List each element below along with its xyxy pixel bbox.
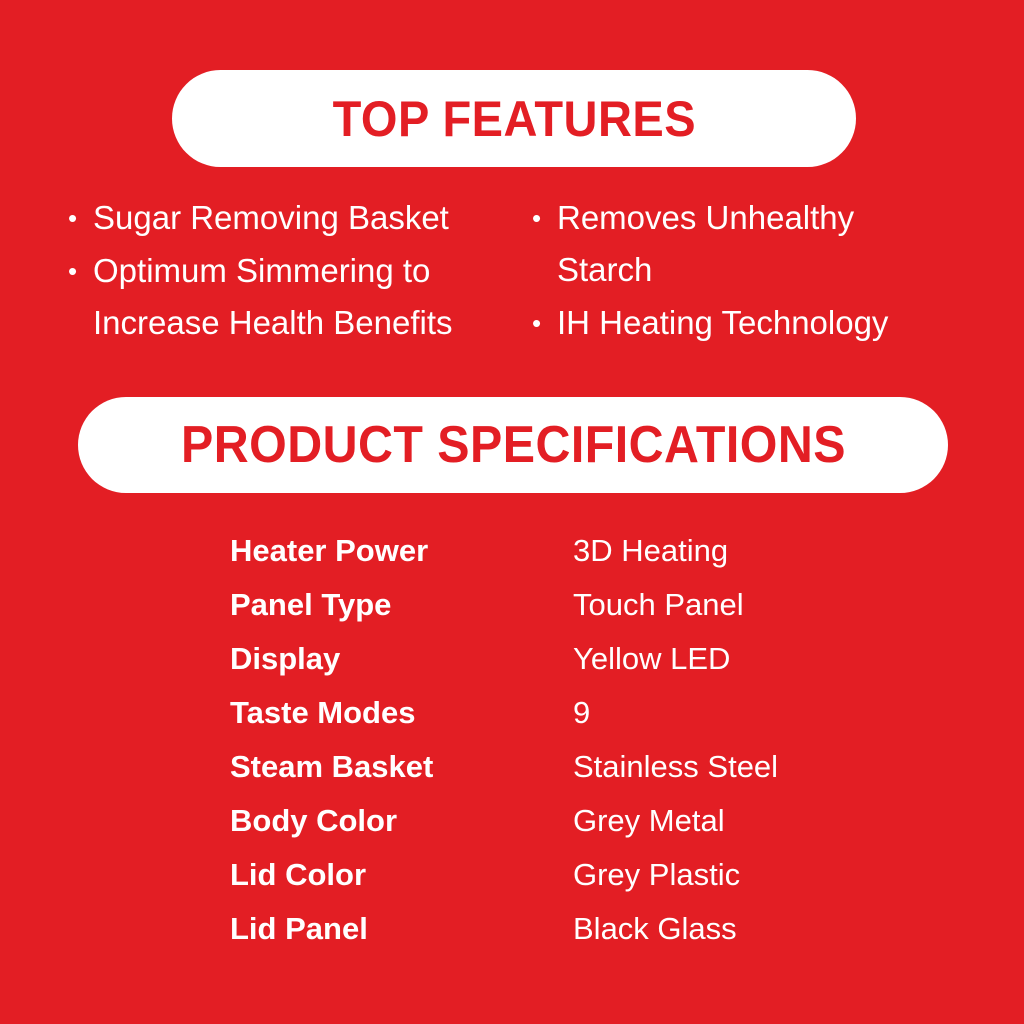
spec-value: Grey Metal: [573, 794, 990, 848]
spec-label: Display: [230, 632, 573, 686]
spec-label: Taste Modes: [230, 686, 573, 740]
table-row: Panel Type Touch Panel: [230, 578, 990, 632]
list-item: • Removes Unhealthy Starch: [532, 192, 940, 296]
table-row: Lid Panel Black Glass: [230, 902, 990, 956]
spec-value: 3D Heating: [573, 524, 990, 578]
table-row: Lid Color Grey Plastic: [230, 848, 990, 902]
feature-text: Optimum Simmering to Increase Health Ben…: [93, 245, 470, 349]
bullet-icon: •: [68, 192, 93, 244]
table-row: Display Yellow LED: [230, 632, 990, 686]
spec-label: Body Color: [230, 794, 573, 848]
spec-label: Lid Color: [230, 848, 573, 902]
list-item: • Optimum Simmering to Increase Health B…: [68, 245, 470, 349]
product-specifications-title: PRODUCT SPECIFICATIONS: [181, 419, 846, 471]
spec-value: Touch Panel: [573, 578, 990, 632]
spec-label: Panel Type: [230, 578, 573, 632]
spec-label: Steam Basket: [230, 740, 573, 794]
spec-label: Heater Power: [230, 524, 573, 578]
table-row: Heater Power 3D Heating: [230, 524, 990, 578]
feature-text: Sugar Removing Basket: [93, 192, 470, 244]
list-item: • Sugar Removing Basket: [68, 192, 470, 244]
spec-value: Yellow LED: [573, 632, 990, 686]
top-features-banner: TOP FEATURES: [172, 70, 856, 167]
bullet-icon: •: [532, 192, 557, 244]
specifications-table: Heater Power 3D Heating Panel Type Touch…: [230, 524, 990, 956]
features-column-left: • Sugar Removing Basket • Optimum Simmer…: [0, 192, 470, 350]
bullet-icon: •: [532, 297, 557, 349]
spec-value: Black Glass: [573, 902, 990, 956]
spec-value: Grey Plastic: [573, 848, 990, 902]
bullet-icon: •: [68, 245, 93, 297]
feature-text: IH Heating Technology: [557, 297, 940, 349]
spec-label: Lid Panel: [230, 902, 573, 956]
features-column-right: • Removes Unhealthy Starch • IH Heating …: [470, 192, 940, 350]
product-specifications-banner: PRODUCT SPECIFICATIONS: [78, 397, 948, 493]
table-row: Taste Modes 9: [230, 686, 990, 740]
spec-value: 9: [573, 686, 990, 740]
feature-text: Removes Unhealthy Starch: [557, 192, 940, 296]
features-list: • Sugar Removing Basket • Optimum Simmer…: [0, 192, 1024, 350]
top-features-title: TOP FEATURES: [332, 94, 695, 144]
list-item: • IH Heating Technology: [532, 297, 940, 349]
table-row: Body Color Grey Metal: [230, 794, 990, 848]
table-row: Steam Basket Stainless Steel: [230, 740, 990, 794]
spec-value: Stainless Steel: [573, 740, 990, 794]
product-info-card: TOP FEATURES • Sugar Removing Basket • O…: [0, 0, 1024, 1024]
